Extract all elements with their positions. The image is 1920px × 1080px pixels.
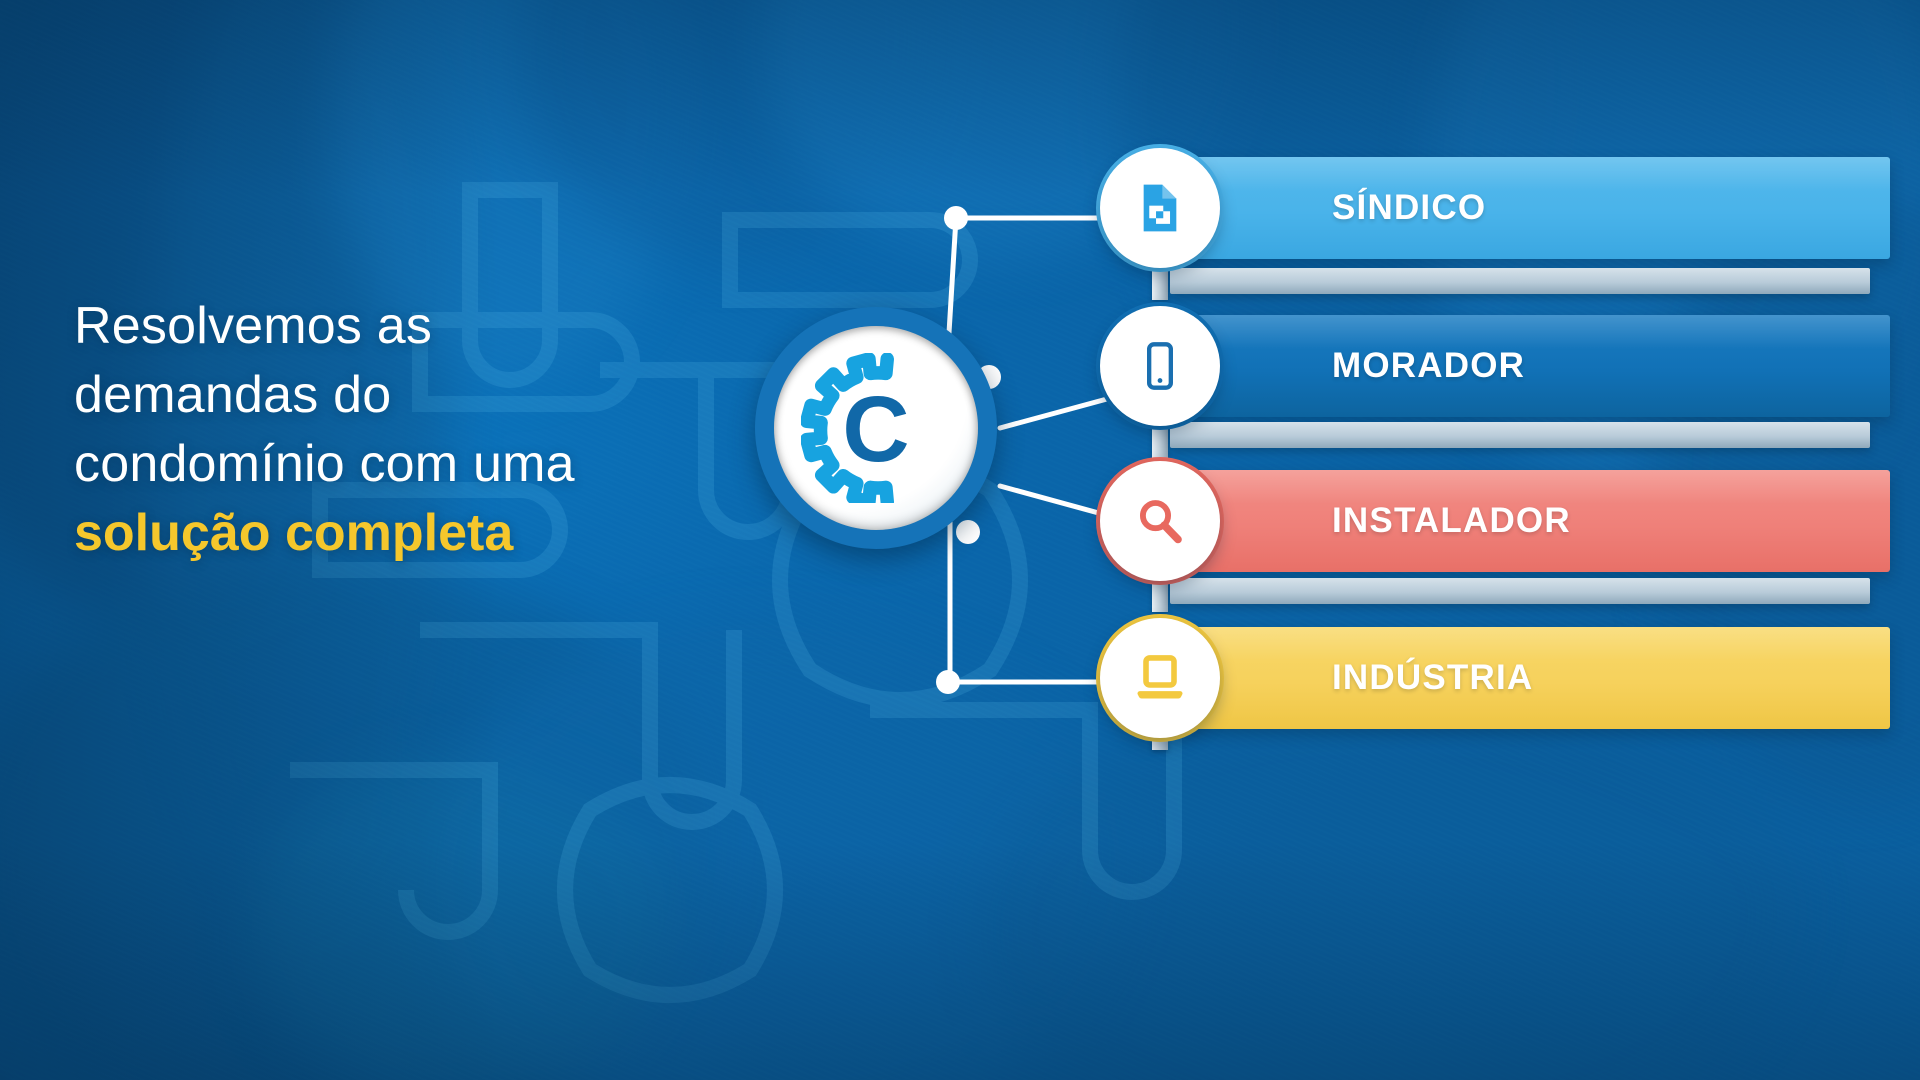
slide-canvas: Resolvemos as demandas do condomínio com… (0, 0, 1920, 1080)
gear-c-logo: C (801, 353, 951, 503)
audience-row-sindico[interactable]: SÍNDICO (1100, 157, 1890, 259)
magnifier-icon (1133, 494, 1187, 548)
audience-label: INSTALADOR (1332, 470, 1571, 572)
audience-node-industria[interactable] (1100, 618, 1220, 738)
brand-letter: C (842, 377, 909, 481)
headline: Resolvemos as demandas do condomínio com… (74, 292, 734, 568)
audience-bar[interactable] (1180, 315, 1890, 417)
audience-node-instalador[interactable] (1100, 461, 1220, 581)
headline-line-1: Resolvemos as (74, 297, 432, 355)
audience-row-instalador[interactable]: INSTALADOR (1100, 470, 1890, 572)
shelf-plate (1170, 268, 1870, 294)
monitor-icon (1132, 650, 1188, 706)
shelf-plate (1170, 578, 1870, 604)
audience-label: INDÚSTRIA (1332, 627, 1533, 729)
audience-bar[interactable] (1180, 627, 1890, 729)
headline-emphasis: solução completa (74, 499, 734, 568)
audience-diagram: C SÍNDICO (700, 100, 1920, 980)
headline-line-3: condomínio com uma (74, 435, 575, 493)
audience-row-industria[interactable]: INDÚSTRIA (1100, 627, 1890, 729)
shelf-plate (1170, 422, 1870, 448)
audience-label: MORADOR (1332, 315, 1525, 417)
audience-node-sindico[interactable] (1100, 148, 1220, 268)
brand-logo-disc: C (774, 326, 978, 530)
audience-bar[interactable] (1180, 157, 1890, 259)
document-copy-icon (1132, 180, 1188, 236)
smartphone-icon (1134, 340, 1186, 392)
audience-label: SÍNDICO (1332, 157, 1486, 259)
audience-node-morador[interactable] (1100, 306, 1220, 426)
audience-row-morador[interactable]: MORADOR (1100, 315, 1890, 417)
brand-logo: C (755, 307, 997, 549)
headline-line-2: demandas do (74, 366, 391, 424)
